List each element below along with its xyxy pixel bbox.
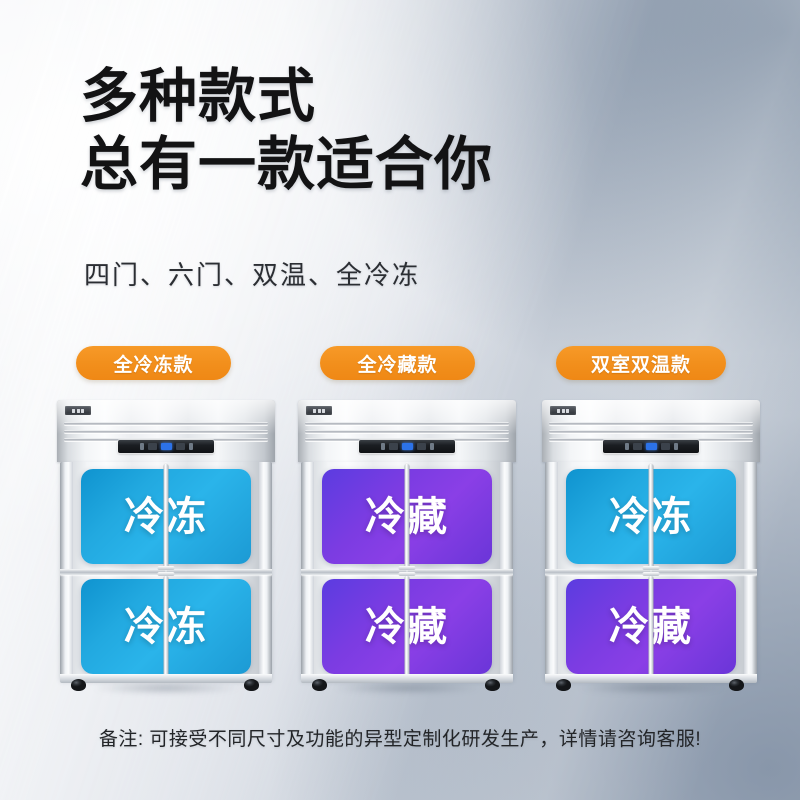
handle-nub	[643, 566, 660, 570]
caster-wheel-icon	[485, 677, 502, 691]
product-unit-dual-temp: 冷冻 冷藏	[542, 400, 760, 690]
hero-subtitle: 四门、六门、双温、全冷冻	[84, 258, 420, 292]
handle-nub	[158, 572, 175, 576]
handle-nub	[399, 572, 416, 576]
led-display-icon	[603, 440, 699, 453]
caster-wheel-icon	[556, 677, 573, 691]
door-handle-upper	[649, 464, 654, 568]
hero-headline: 多种款式 总有一款适合你	[80, 66, 493, 196]
product-badge-all-freezer: 全冷冻款	[76, 346, 231, 380]
product-badge-label: 全冷藏款	[357, 350, 437, 377]
door-handle-lower	[649, 576, 654, 676]
brand-plate-icon	[306, 406, 332, 415]
door-handle-lower	[164, 576, 169, 676]
door-handle-lower	[405, 576, 410, 676]
handle-nub	[158, 566, 175, 570]
caster-wheel-icon	[244, 677, 261, 691]
caster-wheel-icon	[71, 677, 88, 691]
headline-line-2: 总有一款适合你	[80, 134, 493, 196]
cabinet-plinth	[545, 674, 757, 683]
brand-plate-icon	[550, 406, 576, 415]
product-badge-label: 全冷冻款	[113, 350, 193, 377]
compressor-housing	[298, 400, 516, 462]
product-unit-all-freezer: 冷冻 冷冻	[57, 400, 275, 690]
product-badge-dual-temp: 双室双温款	[556, 346, 726, 380]
product-unit-all-chiller: 冷藏 冷藏	[298, 400, 516, 690]
product-badge-row: 全冷冻款 全冷藏款 双室双温款	[0, 346, 800, 380]
handle-nub	[643, 572, 660, 576]
footer-note: 备注: 可接受不同尺寸及功能的异型定制化研发生产，详情请咨询客服!	[0, 724, 800, 751]
door-handle-upper	[405, 464, 410, 568]
promo-banner: 多种款式 总有一款适合你 四门、六门、双温、全冷冻 全冷冻款 全冷藏款 双室双温…	[0, 0, 800, 800]
footer-note-text: 备注: 可接受不同尺寸及功能的异型定制化研发生产，详情请咨询客服!	[99, 729, 701, 750]
brand-plate-icon	[65, 406, 91, 415]
cabinet-plinth	[301, 674, 513, 683]
caster-wheel-icon	[312, 677, 329, 691]
compressor-housing	[57, 400, 275, 462]
product-badge-label: 双室双温款	[591, 350, 691, 377]
led-display-icon	[118, 440, 214, 453]
caster-wheel-icon	[729, 677, 746, 691]
compressor-housing	[542, 400, 760, 462]
cabinet-plinth	[60, 674, 272, 683]
product-badge-all-chiller: 全冷藏款	[320, 346, 475, 380]
handle-nub	[399, 566, 416, 570]
led-display-icon	[359, 440, 455, 453]
headline-line-1: 多种款式	[80, 66, 493, 128]
door-handle-upper	[164, 464, 169, 568]
